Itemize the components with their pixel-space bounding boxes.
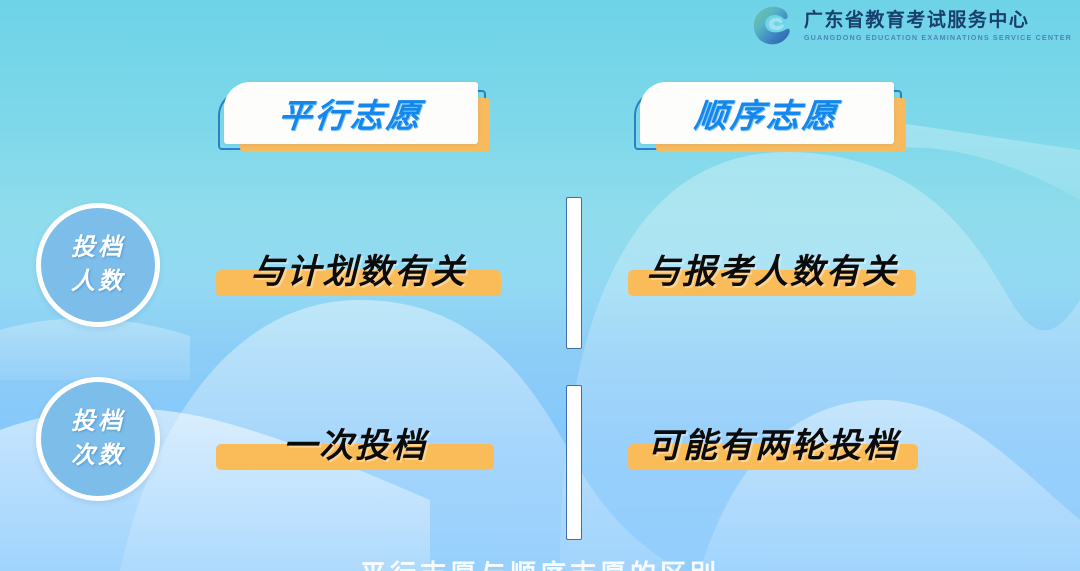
statement-times-sequential: 可能有两轮投档	[628, 412, 918, 472]
statement-text: 一次投档	[216, 418, 494, 467]
statement-text: 可能有两轮投档	[628, 418, 918, 467]
swan-e-logo-icon	[750, 4, 796, 48]
row-badge-times: 投档 次数	[36, 377, 160, 501]
row-badge-line2: 人数	[71, 265, 125, 299]
row-badge-line1: 投档	[71, 231, 125, 265]
column-title-card-parallel: 平行志愿	[218, 80, 490, 150]
background-waves	[0, 0, 1080, 571]
statement-count-parallel: 与计划数有关	[216, 238, 501, 298]
statement-times-parallel: 一次投档	[216, 412, 494, 472]
title-card-plate: 顺序志愿	[640, 82, 894, 144]
row-badge-line2: 次数	[71, 439, 125, 473]
statement-text: 与计划数有关	[216, 244, 501, 293]
statement-count-sequential: 与报考人数有关	[628, 238, 916, 298]
brand-logo: 广东省教育考试服务中心 GUANGDONG EDUCATION EXAMINAT…	[750, 4, 1072, 48]
brand-name-en: GUANGDONG EDUCATION EXAMINATIONS SERVICE…	[804, 34, 1072, 41]
bottom-caption: 平行志愿与顺序志愿的区别	[0, 554, 1080, 571]
column-title-text: 顺序志愿	[692, 89, 841, 137]
statement-text: 与报考人数有关	[628, 244, 916, 293]
slide-canvas: 广东省教育考试服务中心 GUANGDONG EDUCATION EXAMINAT…	[0, 0, 1080, 571]
row-badge-count: 投档 人数	[36, 203, 160, 327]
brand-text: 广东省教育考试服务中心 GUANGDONG EDUCATION EXAMINAT…	[804, 11, 1072, 41]
column-divider-upper	[566, 197, 582, 349]
column-title-text: 平行志愿	[276, 89, 425, 137]
brand-name-cn: 广东省教育考试服务中心	[804, 11, 1072, 30]
column-title-card-sequential: 顺序志愿	[634, 80, 906, 150]
row-badge-line1: 投档	[71, 405, 125, 439]
column-divider-lower	[566, 385, 582, 540]
title-card-plate: 平行志愿	[224, 82, 478, 144]
